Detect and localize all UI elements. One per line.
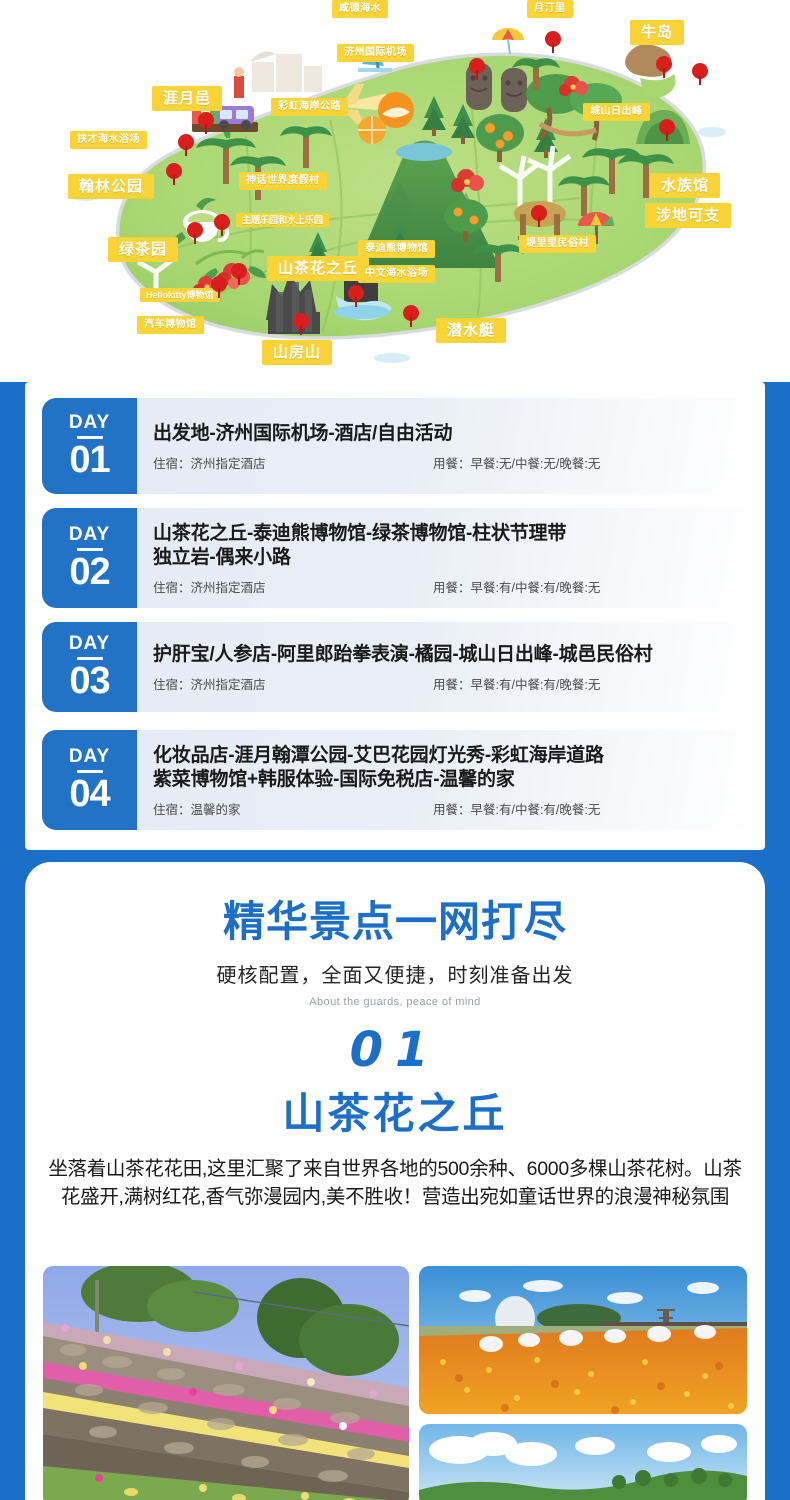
highlight-section: 精华景点一网打尽 硬核配置，全面又便捷，时刻准备出发 About the gua… [25, 862, 765, 1500]
map-pin-icon[interactable] [178, 134, 194, 156]
map-label[interactable]: 挟才海水浴场 [70, 131, 147, 149]
day-meta: 住宿：温馨的家用餐：早餐:有/中餐:有/晚餐:无 [153, 799, 737, 818]
photo-orange-flower-field[interactable] [419, 1266, 747, 1414]
map-label[interactable]: 绿茶园 [108, 237, 178, 262]
map-pin-icon[interactable] [403, 305, 419, 327]
itinerary-section: DAY01出发地-济州国际机场-酒店/自由活动住宿：济州指定酒店用餐：早餐:无/… [25, 382, 765, 850]
map-label[interactable]: 彩虹海岸公路 [271, 98, 348, 116]
map-label[interactable]: 神话世界度假村 [239, 172, 327, 190]
highlight-title: 精华景点一网打尽 [25, 888, 765, 949]
day-badge: DAY04 [42, 730, 137, 830]
day-word: DAY [69, 747, 110, 766]
day-body: 山茶花之丘-泰迪熊博物馆-绿茶博物馆-柱状节理带独立岩-偶来小路住宿：济州指定酒… [137, 508, 751, 608]
map-label[interactable]: 牛岛 [630, 20, 684, 45]
day-card[interactable]: DAY02山茶花之丘-泰迪熊博物馆-绿茶博物馆-柱状节理带独立岩-偶来小路住宿：… [42, 508, 751, 608]
day-body: 出发地-济州国际机场-酒店/自由活动住宿：济州指定酒店用餐：早餐:无/中餐:无/… [137, 398, 751, 494]
highlight-description: 坐落着山茶花花田,这里汇聚了来自世界各地的500余种、6000多棵山茶花树。山茶… [43, 1155, 747, 1212]
map-pin-icon[interactable] [214, 214, 230, 236]
day-body: 护肝宝/人参店-阿里郎跆拳表演-橘园-城山日出峰-城邑民俗村住宿：济州指定酒店用… [137, 622, 751, 712]
map-label[interactable]: 济州国际机场 [337, 44, 414, 62]
map-label[interactable]: 山房山 [262, 340, 332, 365]
map-label[interactable]: 山茶花之丘 [267, 256, 369, 281]
map-label[interactable]: 翰林公园 [68, 174, 154, 199]
day-stay: 住宿：温馨的家 [153, 799, 433, 818]
map-label[interactable]: 泰迪熊博物馆 [358, 240, 435, 258]
day-meta: 住宿：济州指定酒店用餐：早餐:有/中餐:有/晚餐:无 [153, 577, 737, 596]
highlight-spot-name: 山茶花之丘 [25, 1080, 765, 1141]
day-stay: 住宿：济州指定酒店 [153, 577, 433, 596]
day-body: 化妆品店-涯月翰潭公园-艾巴花园灯光秀-彩虹海岸道路紫菜博物馆+韩服体验-国际免… [137, 730, 751, 830]
map-label[interactable]: 堤里里民俗村 [519, 235, 596, 253]
day-meal: 用餐：早餐:无/中餐:无/晚餐:无 [433, 453, 737, 472]
highlight-english-tagline: About the guards, peace of mind [25, 996, 765, 1008]
map-pin-icon[interactable] [211, 276, 227, 298]
day-card[interactable]: DAY03护肝宝/人参店-阿里郎跆拳表演-橘园-城山日出峰-城邑民俗村住宿：济州… [42, 622, 751, 712]
day-meal: 用餐：早餐:有/中餐:有/晚餐:无 [433, 577, 737, 596]
map-label[interactable]: 涉地可支 [645, 203, 731, 228]
map-label[interactable]: 城山日出峰 [583, 103, 650, 121]
map-label[interactable]: 汽车博物馆 [137, 316, 204, 334]
day-word: DAY [69, 413, 110, 432]
map-pin-icon[interactable] [545, 31, 561, 53]
map-pin-icon[interactable] [198, 112, 214, 134]
day-number: 02 [69, 553, 109, 591]
day-badge: DAY01 [42, 398, 137, 494]
day-badge: DAY03 [42, 622, 137, 712]
map-pin-icon[interactable] [348, 285, 364, 307]
photo-terraced-flower-wall[interactable] [43, 1266, 409, 1500]
photo-sky-over-field[interactable] [419, 1424, 747, 1500]
map-pin-icon[interactable] [187, 222, 203, 244]
day-stay: 住宿：济州指定酒店 [153, 453, 433, 472]
day-meal: 用餐：早餐:有/中餐:有/晚餐:无 [433, 799, 737, 818]
map-label[interactable]: 水族馆 [650, 173, 720, 198]
map-pin-icon[interactable] [469, 58, 485, 80]
map-pin-icon[interactable] [659, 119, 675, 141]
highlight-subtitle: 硬核配置，全面又便捷，时刻准备出发 [25, 959, 765, 988]
day-title: 化妆品店-涯月翰潭公园-艾巴花园灯光秀-彩虹海岸道路紫菜博物馆+韩服体验-国际免… [153, 744, 737, 793]
day-title: 山茶花之丘-泰迪熊博物馆-绿茶博物馆-柱状节理带独立岩-偶来小路 [153, 522, 737, 571]
map-label[interactable]: 咸德海水 [332, 0, 388, 18]
day-word: DAY [69, 634, 110, 653]
day-badge: DAY02 [42, 508, 137, 608]
day-card[interactable]: DAY04化妆品店-涯月翰潭公园-艾巴花园灯光秀-彩虹海岸道路紫菜博物馆+韩服体… [42, 730, 751, 830]
map-pin-icon[interactable] [293, 313, 309, 335]
day-meal: 用餐：早餐:有/中餐:有/晚餐:无 [433, 674, 737, 693]
map-pin-icon[interactable] [231, 263, 247, 285]
map-pin-icon[interactable] [656, 56, 672, 78]
map-label[interactable]: 涯月邑 [152, 86, 222, 111]
day-word: DAY [69, 525, 110, 544]
map-pin-icon[interactable] [692, 63, 708, 85]
map-label[interactable]: Hellokitty博物馆 [140, 288, 220, 302]
day-stay: 住宿：济州指定酒店 [153, 674, 433, 693]
day-number: 04 [69, 775, 109, 813]
day-meta: 住宿：济州指定酒店用餐：早餐:有/中餐:有/晚餐:无 [153, 674, 737, 693]
highlight-index-number: 01 [25, 1022, 765, 1078]
map-label[interactable]: 主题乐园和水上乐园 [236, 213, 329, 227]
day-number: 03 [69, 662, 109, 700]
day-number: 01 [69, 441, 109, 479]
map-label[interactable]: 月汀里 [527, 0, 573, 18]
map-label[interactable]: 中文海水浴场 [358, 265, 435, 283]
highlight-photo-gallery [43, 1266, 747, 1500]
jeju-map-section: 咸德海水月汀里牛岛济州国际机场涯月邑彩虹海岸公路城山日出峰挟才海水浴场翰林公园神… [0, 0, 790, 382]
day-title: 护肝宝/人参店-阿里郎跆拳表演-橘园-城山日出峰-城邑民俗村 [153, 643, 737, 667]
map-label[interactable]: 潜水艇 [436, 318, 506, 343]
map-pin-icon[interactable] [531, 205, 547, 227]
day-title: 出发地-济州国际机场-酒店/自由活动 [153, 422, 737, 446]
day-meta: 住宿：济州指定酒店用餐：早餐:无/中餐:无/晚餐:无 [153, 453, 737, 472]
day-card[interactable]: DAY01出发地-济州国际机场-酒店/自由活动住宿：济州指定酒店用餐：早餐:无/… [42, 398, 751, 494]
map-pin-icon[interactable] [166, 163, 182, 185]
